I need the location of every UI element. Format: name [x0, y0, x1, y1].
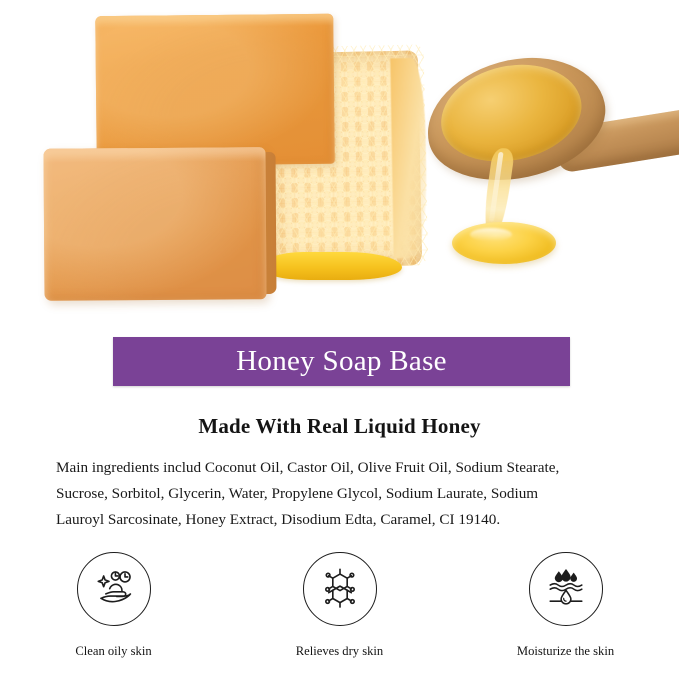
benefit-item-moisturize-the-skin: Moisturize the skin — [506, 552, 626, 659]
ingredients-block: Main ingredients includ Coconut Oil, Cas… — [56, 455, 628, 533]
honeycomb-edge — [390, 58, 427, 259]
benefit-label: Clean oily skin — [75, 644, 151, 659]
benefit-icon-circle — [529, 552, 603, 626]
soap-bar-front — [43, 147, 266, 301]
benefit-item-relieves-dry-skin: Relieves dry skin — [280, 552, 400, 659]
hero-product-image — [0, 0, 679, 325]
benefit-icon-circle — [303, 552, 377, 626]
soap-bar-back — [95, 14, 335, 166]
ingredients-line: Main ingredients includ Coconut Oil, Cas… — [56, 455, 628, 481]
benefit-label: Relieves dry skin — [296, 644, 383, 659]
hand-soap-bubbles-icon — [91, 564, 137, 615]
benefits-row: Clean oily skin — [0, 552, 679, 659]
title-banner: Honey Soap Base — [113, 337, 570, 386]
benefit-icon-circle — [77, 552, 151, 626]
page-title: Honey Soap Base — [236, 347, 447, 376]
honey-pool — [452, 222, 556, 264]
subtitle: Made With Real Liquid Honey — [0, 414, 679, 439]
benefit-label: Moisturize the skin — [517, 644, 614, 659]
honey-pool-gloss — [470, 228, 512, 241]
water-drops-waves-icon — [543, 564, 589, 615]
molecule-hexagon-icon — [317, 564, 363, 615]
comb-honey-pool — [262, 252, 402, 280]
ingredients-line: Lauroyl Sarcosinate, Honey Extract, Diso… — [56, 507, 628, 533]
ingredients-line: Sucrose, Sorbitol, Glycerin, Water, Prop… — [56, 481, 628, 507]
benefit-item-clean-oily-skin: Clean oily skin — [54, 552, 174, 659]
